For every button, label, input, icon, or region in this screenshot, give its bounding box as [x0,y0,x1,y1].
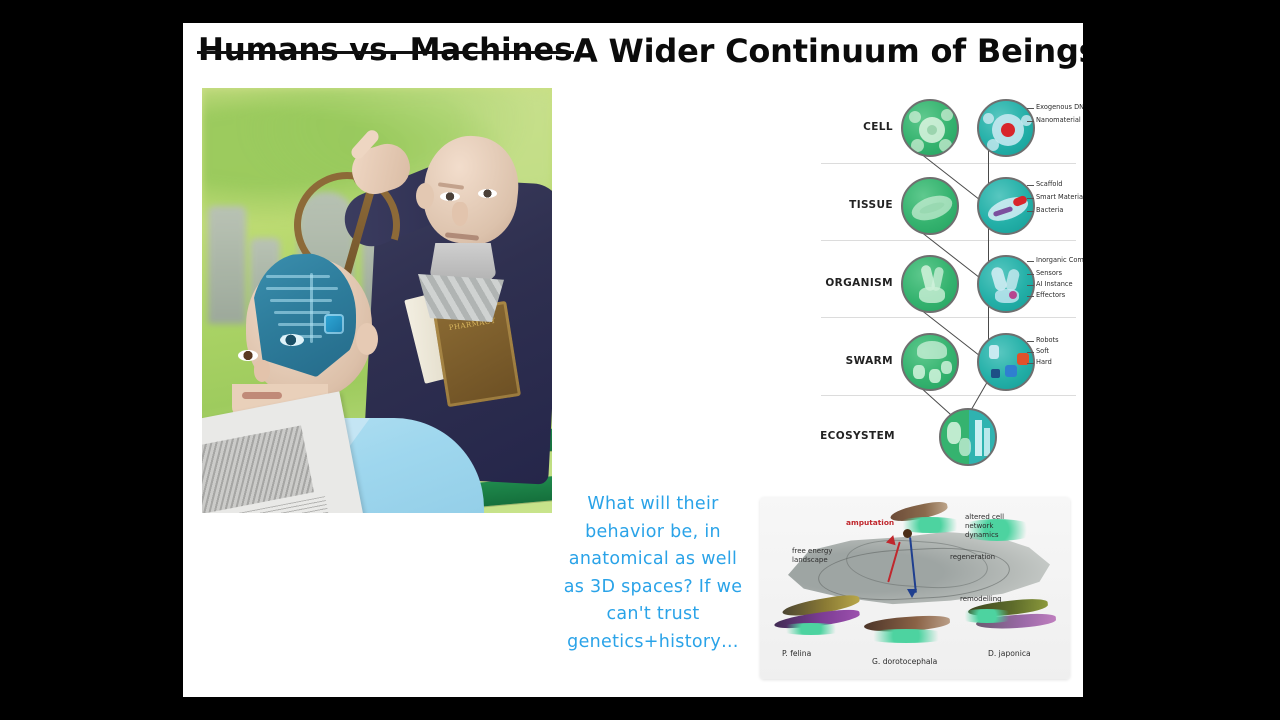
node-tissue-natural [901,177,959,235]
old-man-eye [478,189,497,198]
old-man-eye [440,192,460,201]
worm-sparkle [776,623,846,635]
row-divider [821,317,1076,318]
row-divider [821,240,1076,241]
callout-hard: Hard [1036,358,1052,366]
callout-soft: Soft [1036,347,1049,355]
regeneration-trajectory-arrow-head [907,589,917,598]
old-man-scarf [418,274,504,322]
old-man-ear [416,183,434,209]
continuum-of-beings-diagram: CELL Exogenous DNA Nanomaterial T [813,85,1081,475]
label-amputation: amputation [846,518,894,527]
label-altered-cell-network-dynamics: altered cell network dynamics [965,513,1004,540]
row-divider [821,395,1076,396]
callout-sensors: Sensors [1036,269,1062,277]
species-label-p-felina: P. felina [782,649,811,658]
slide-stage: Humans vs. Machines A Wider Continuum of… [0,0,1280,720]
row-divider [821,163,1076,164]
tier-label-organism: ORGANISM [803,277,893,289]
callout-inorganic-components: Inorganic Components [1036,256,1083,264]
callout-exogenous-dna: Exogenous DNA [1036,103,1083,111]
cyborg-ear [356,323,378,355]
slide-title: Humans vs. Machines A Wider Continuum of… [183,23,1083,81]
callout-smart-material: Smart Material [1036,193,1083,201]
callout-scaffold: Scaffold [1036,180,1062,188]
callout-bacteria: Bacteria [1036,206,1063,214]
presentation-slide: Humans vs. Machines A Wider Continuum of… [183,23,1083,697]
cyborg-nose [254,360,270,382]
strikethrough-line [197,51,574,54]
gravestone [208,206,246,324]
tier-label-tissue: TISSUE [813,199,893,211]
node-ecosystem [939,408,997,466]
node-organism-natural [901,255,959,313]
cyborg-mouth [242,392,282,399]
worm-sparkle [860,629,952,643]
tier-label-cell: CELL [813,121,893,133]
cyborg-robotic-eye [280,334,304,346]
callout-effectors: Effectors [1036,291,1065,299]
node-cell-natural [901,99,959,157]
node-organism-engineered [977,255,1035,313]
planaria-free-energy-landscape-figure: amputation altered cell network dynamics… [760,497,1070,679]
label-free-energy-landscape: free energy landscape [792,547,832,565]
cyborg-human-eye [238,350,258,361]
species-label-d-japonica: D. japonica [988,649,1031,658]
species-label-g-dorotocephala: G. dorotocephala [872,657,937,666]
callout-nanomaterial: Nanomaterial [1036,116,1081,124]
title-main-text: A Wider Continuum of Beings [573,32,1083,70]
newspaper-photo [202,425,314,513]
label-regeneration: regeneration [950,553,995,562]
title-struck-through: Humans vs. Machines [198,32,572,68]
slide-caption: What will their behavior be, in anatomic… [563,491,743,656]
tier-label-swarm: SWARM [813,355,893,367]
worm-sparkle [956,609,1018,623]
tier-label-ecosystem: ECOSYSTEM [805,430,895,442]
old-man-nose [452,202,468,226]
node-swarm-natural [901,333,959,391]
cyborg-illustration: PHARMACY [202,88,552,513]
callout-ai-instance: AI Instance [1036,280,1073,288]
cyborg-chip [324,314,344,334]
callout-robots: Robots [1036,336,1059,344]
